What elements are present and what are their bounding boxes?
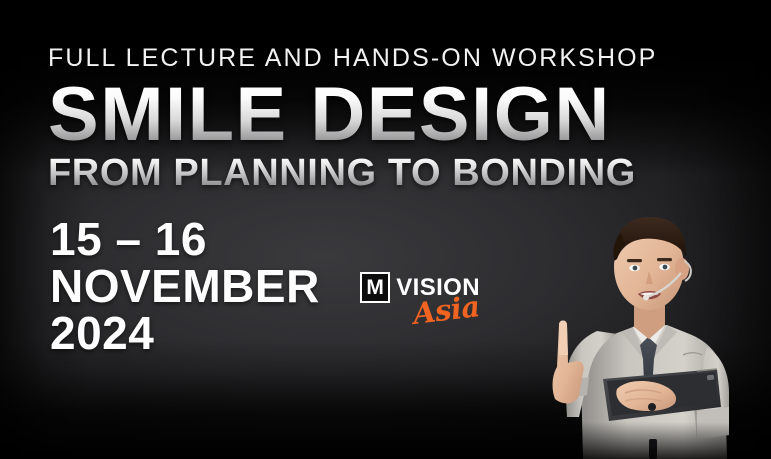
logo-mark-m: M bbox=[360, 272, 390, 303]
subtitle: FROM PLANNING TO BONDING bbox=[48, 154, 657, 192]
speaker-photo bbox=[521, 149, 771, 459]
event-date-month: NOVEMBER bbox=[50, 263, 320, 310]
brand-logo[interactable]: M VISION Asia bbox=[360, 272, 480, 332]
event-promo-banner: FULL LECTURE AND HANDS-ON WORKSHOP SMILE… bbox=[0, 0, 771, 459]
headline-group: FULL LECTURE AND HANDS-ON WORKSHOP SMILE… bbox=[48, 46, 657, 192]
pointing-hand bbox=[553, 321, 584, 404]
logo-script-asia: Asia bbox=[411, 292, 481, 329]
kicker-text: FULL LECTURE AND HANDS-ON WORKSHOP bbox=[48, 46, 657, 71]
event-date-year: 2024 bbox=[50, 310, 320, 357]
event-date-days: 15 – 16 bbox=[50, 216, 320, 263]
event-date: 15 – 16 NOVEMBER 2024 bbox=[50, 216, 320, 357]
page-title: SMILE DESIGN bbox=[48, 80, 657, 150]
